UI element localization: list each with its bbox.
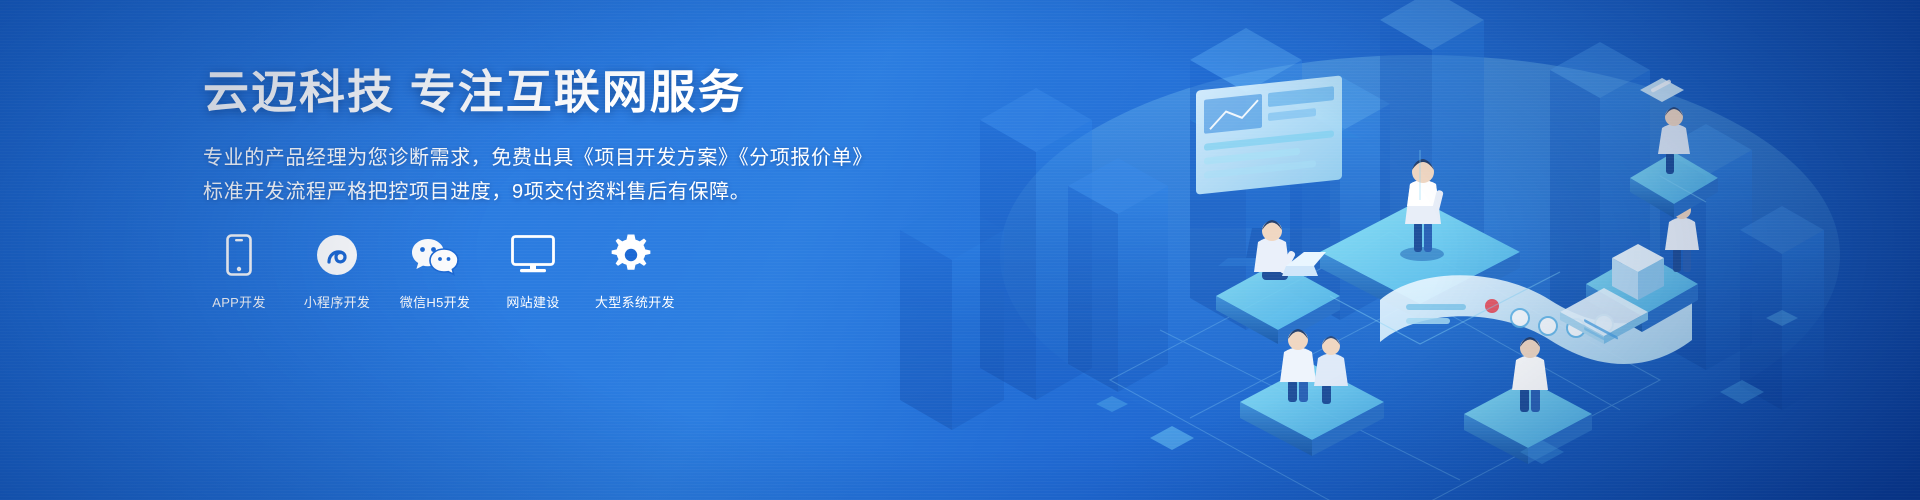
subtitle-line-1: 专业的产品经理为您诊断需求，免费出具《项目开发方案》《分项报价单》 (203, 141, 963, 175)
service-list: APP开发 小程序开发 微信 (203, 232, 693, 311)
service-item-system[interactable]: 大型系统开发 (595, 232, 667, 311)
gear-icon (595, 232, 667, 278)
service-item-website[interactable]: 网站建设 (497, 232, 569, 311)
page-title: 云迈科技 专注互联网服务 (203, 66, 963, 119)
service-label: 微信H5开发 (399, 292, 471, 311)
monitor-icon (497, 232, 569, 278)
promo-banner: 云迈科技 专注互联网服务 专业的产品经理为您诊断需求，免费出具《项目开发方案》《… (0, 0, 1920, 500)
wechat-icon (399, 232, 471, 278)
smartphone-icon (203, 232, 275, 278)
banner-subtitle: 专业的产品经理为您诊断需求，免费出具《项目开发方案》《分项报价单》 标准开发流程… (203, 141, 963, 210)
service-item-miniprogram[interactable]: 小程序开发 (301, 232, 373, 311)
mini-program-icon (301, 232, 373, 278)
illustration (860, 0, 1920, 500)
service-label: 网站建设 (497, 292, 569, 311)
banner-copy: 云迈科技 专注互联网服务 专业的产品经理为您诊断需求，免费出具《项目开发方案》《… (203, 66, 963, 210)
service-label: 大型系统开发 (595, 292, 667, 311)
service-item-wechat[interactable]: 微信H5开发 (399, 232, 471, 311)
service-item-app[interactable]: APP开发 (203, 232, 275, 311)
subtitle-line-2: 标准开发流程严格把控项目进度，9项交付资料售后有保障。 (203, 175, 963, 209)
service-label: 小程序开发 (301, 292, 373, 311)
service-label: APP开发 (203, 292, 275, 311)
